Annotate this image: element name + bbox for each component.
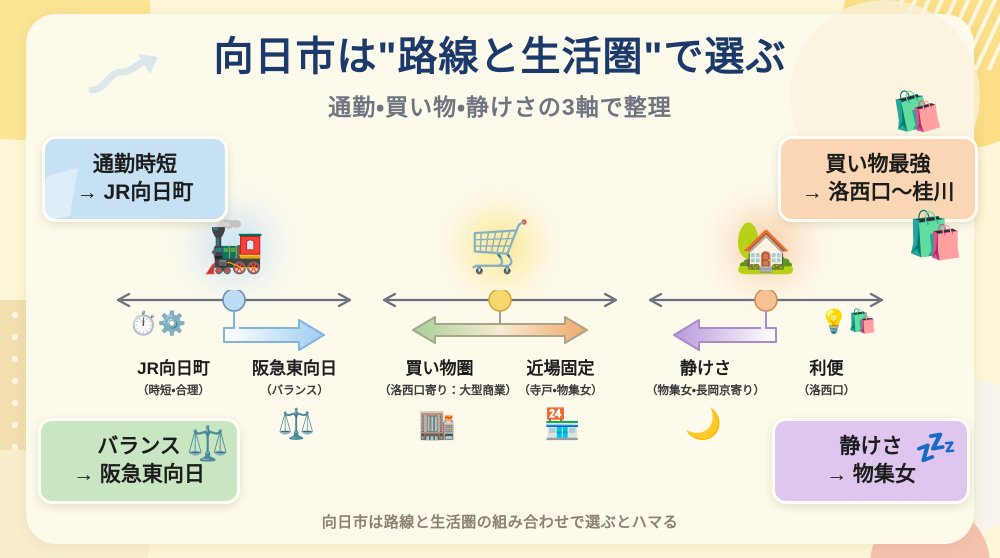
house-icon: 🏡 [735,222,797,272]
axis-label: JR向日町 [113,354,234,379]
footer-caption: 向日市は路線と生活圏の組み合わせで選ぶとハマる [0,511,1000,532]
axis-arrow-graphic [375,290,625,354]
axis-sublabel: （バランス） [234,382,355,398]
axis-endpoint-left: 買い物圏 （洛西口寄り：大型商業） [379,354,500,398]
axis-labels: 買い物圏 （洛西口寄り：大型商業） 近場固定 （寺戸・物集女） [375,354,625,398]
badge-line2: → 洛西口〜桂川 [799,179,957,207]
axis-line-wrap: 💡🛍️ [641,290,891,354]
crescent-moon-icon: 🌙 [641,410,766,440]
bulb-bag-icons: 💡🛍️ [820,310,877,333]
axis-endpoint-left: JR向日町 （時短・合理） [113,354,234,398]
axis-endpoint-right: 利便 （洛西口） [766,354,887,398]
department-store-icon: 🏬 [375,410,500,440]
train-icon: 🚂 [203,222,265,272]
axis-line-wrap [375,290,625,354]
axis-endpoint-right: 阪急東向日 （バランス） [234,354,355,398]
axis-labels: 静けさ （物集女・長岡京寄り） 利便 （洛西口） [641,354,891,398]
shopping-bag-icon-top: 🛍️ [890,89,945,136]
axis-label: 近場固定 [500,354,621,379]
page-subtitle: 通勤・買い物・静けさの3軸で整理 [0,88,1000,122]
axis-sublabel: （物集女・長岡京寄り） [645,382,766,398]
axis-sublabel: （洛西口） [766,382,887,398]
axis-bottom-icons: 🏬 🏪 [375,410,625,440]
axis-top-icon-wrap: 🛒 [375,204,625,290]
axis-quiet-convenience: 🏡 💡🛍️ [641,204,891,454]
badge-balance[interactable]: ⚖️ バランス → 阪急東向日 [38,418,240,504]
badge-commute-shortcut[interactable]: 通勤時短 → JR向日町 [42,136,228,222]
axis-endpoint-left: 静けさ （物集女・長岡京寄り） [645,354,766,398]
decor-wave [45,158,119,222]
axis-sublabel: （洛西口寄り：大型商業） [379,382,500,398]
convenience-store-icon: 🏪 [500,410,625,440]
axis-label: 静けさ [645,354,766,379]
axis-labels: JR向日町 （時短・合理） 阪急東向日 （バランス） [109,354,359,398]
axis-sublabel: （寺戸・物集女） [500,382,621,398]
scale-icon: ⚖️ [187,427,229,461]
stopwatch-gear-icons: ⏱️⚙️ [129,312,186,335]
axis-label: 買い物圏 [379,354,500,379]
axis-commute: 🚂 ⏱️⚙️ [109,204,359,454]
axis-label: 利便 [766,354,887,379]
page-title: 向日市は"路線と生活圏"で選ぶ [0,34,1000,80]
badge-quiet[interactable]: 💤 静けさ → 物集女 [772,418,970,504]
axis-line-wrap: ⏱️⚙️ [109,290,359,354]
scale-icon: ⚖️ [234,410,359,440]
shopping-bag-icon-bottom: 🛍️ [907,212,964,258]
axis-sublabel: （時短・合理） [113,382,234,398]
axis-group: 🚂 ⏱️⚙️ [0,204,1000,454]
badge-line1: 買い物最強 [799,151,957,179]
sleeping-cloud-icon: 💤 [915,431,957,465]
shopping-cart-icon: 🛒 [469,222,531,272]
badge-line2: → 阪急東向日 [59,461,219,489]
axis-shopping: 🛒 [375,204,625,454]
infographic-canvas: 向日市は"路線と生活圏"で選ぶ 通勤・買い物・静けさの3軸で整理 通勤時短 → … [0,0,1000,558]
axis-label: 阪急東向日 [234,354,355,379]
axis-endpoint-right: 近場固定 （寺戸・物集女） [500,354,621,398]
header: 向日市は"路線と生活圏"で選ぶ 通勤・買い物・静けさの3軸で整理 [0,34,1000,122]
